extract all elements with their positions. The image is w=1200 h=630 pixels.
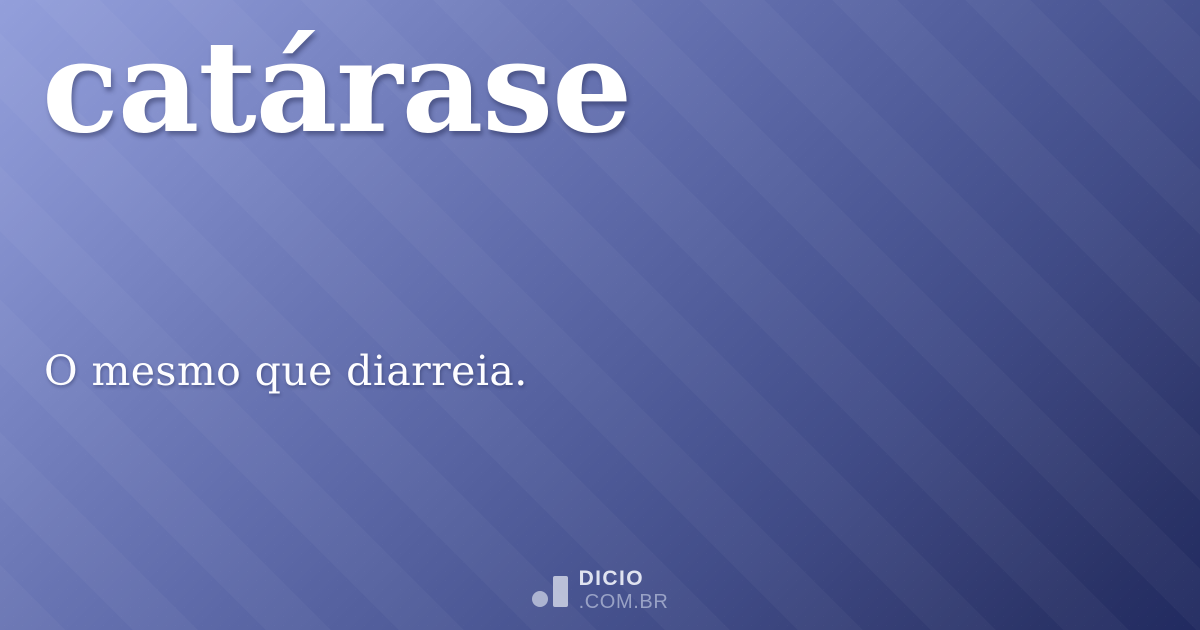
brand-tld: .COM.BR	[579, 592, 669, 612]
page-title: catárase	[42, 13, 631, 162]
brand-wordmark: DICIO .COM.BR	[579, 568, 669, 612]
circle-icon	[532, 591, 548, 607]
definition-text: O mesmo que diarreia.	[44, 346, 528, 396]
brand-name: DICIO	[579, 568, 669, 589]
card-content: catárase O mesmo que diarreia. DICIO .CO…	[0, 0, 1200, 630]
brand-footer[interactable]: DICIO .COM.BR	[0, 568, 1200, 612]
dicio-logo-icon	[532, 574, 568, 607]
rounded-bar-icon	[553, 576, 568, 607]
dictionary-share-card: catárase O mesmo que diarreia. DICIO .CO…	[0, 0, 1200, 630]
